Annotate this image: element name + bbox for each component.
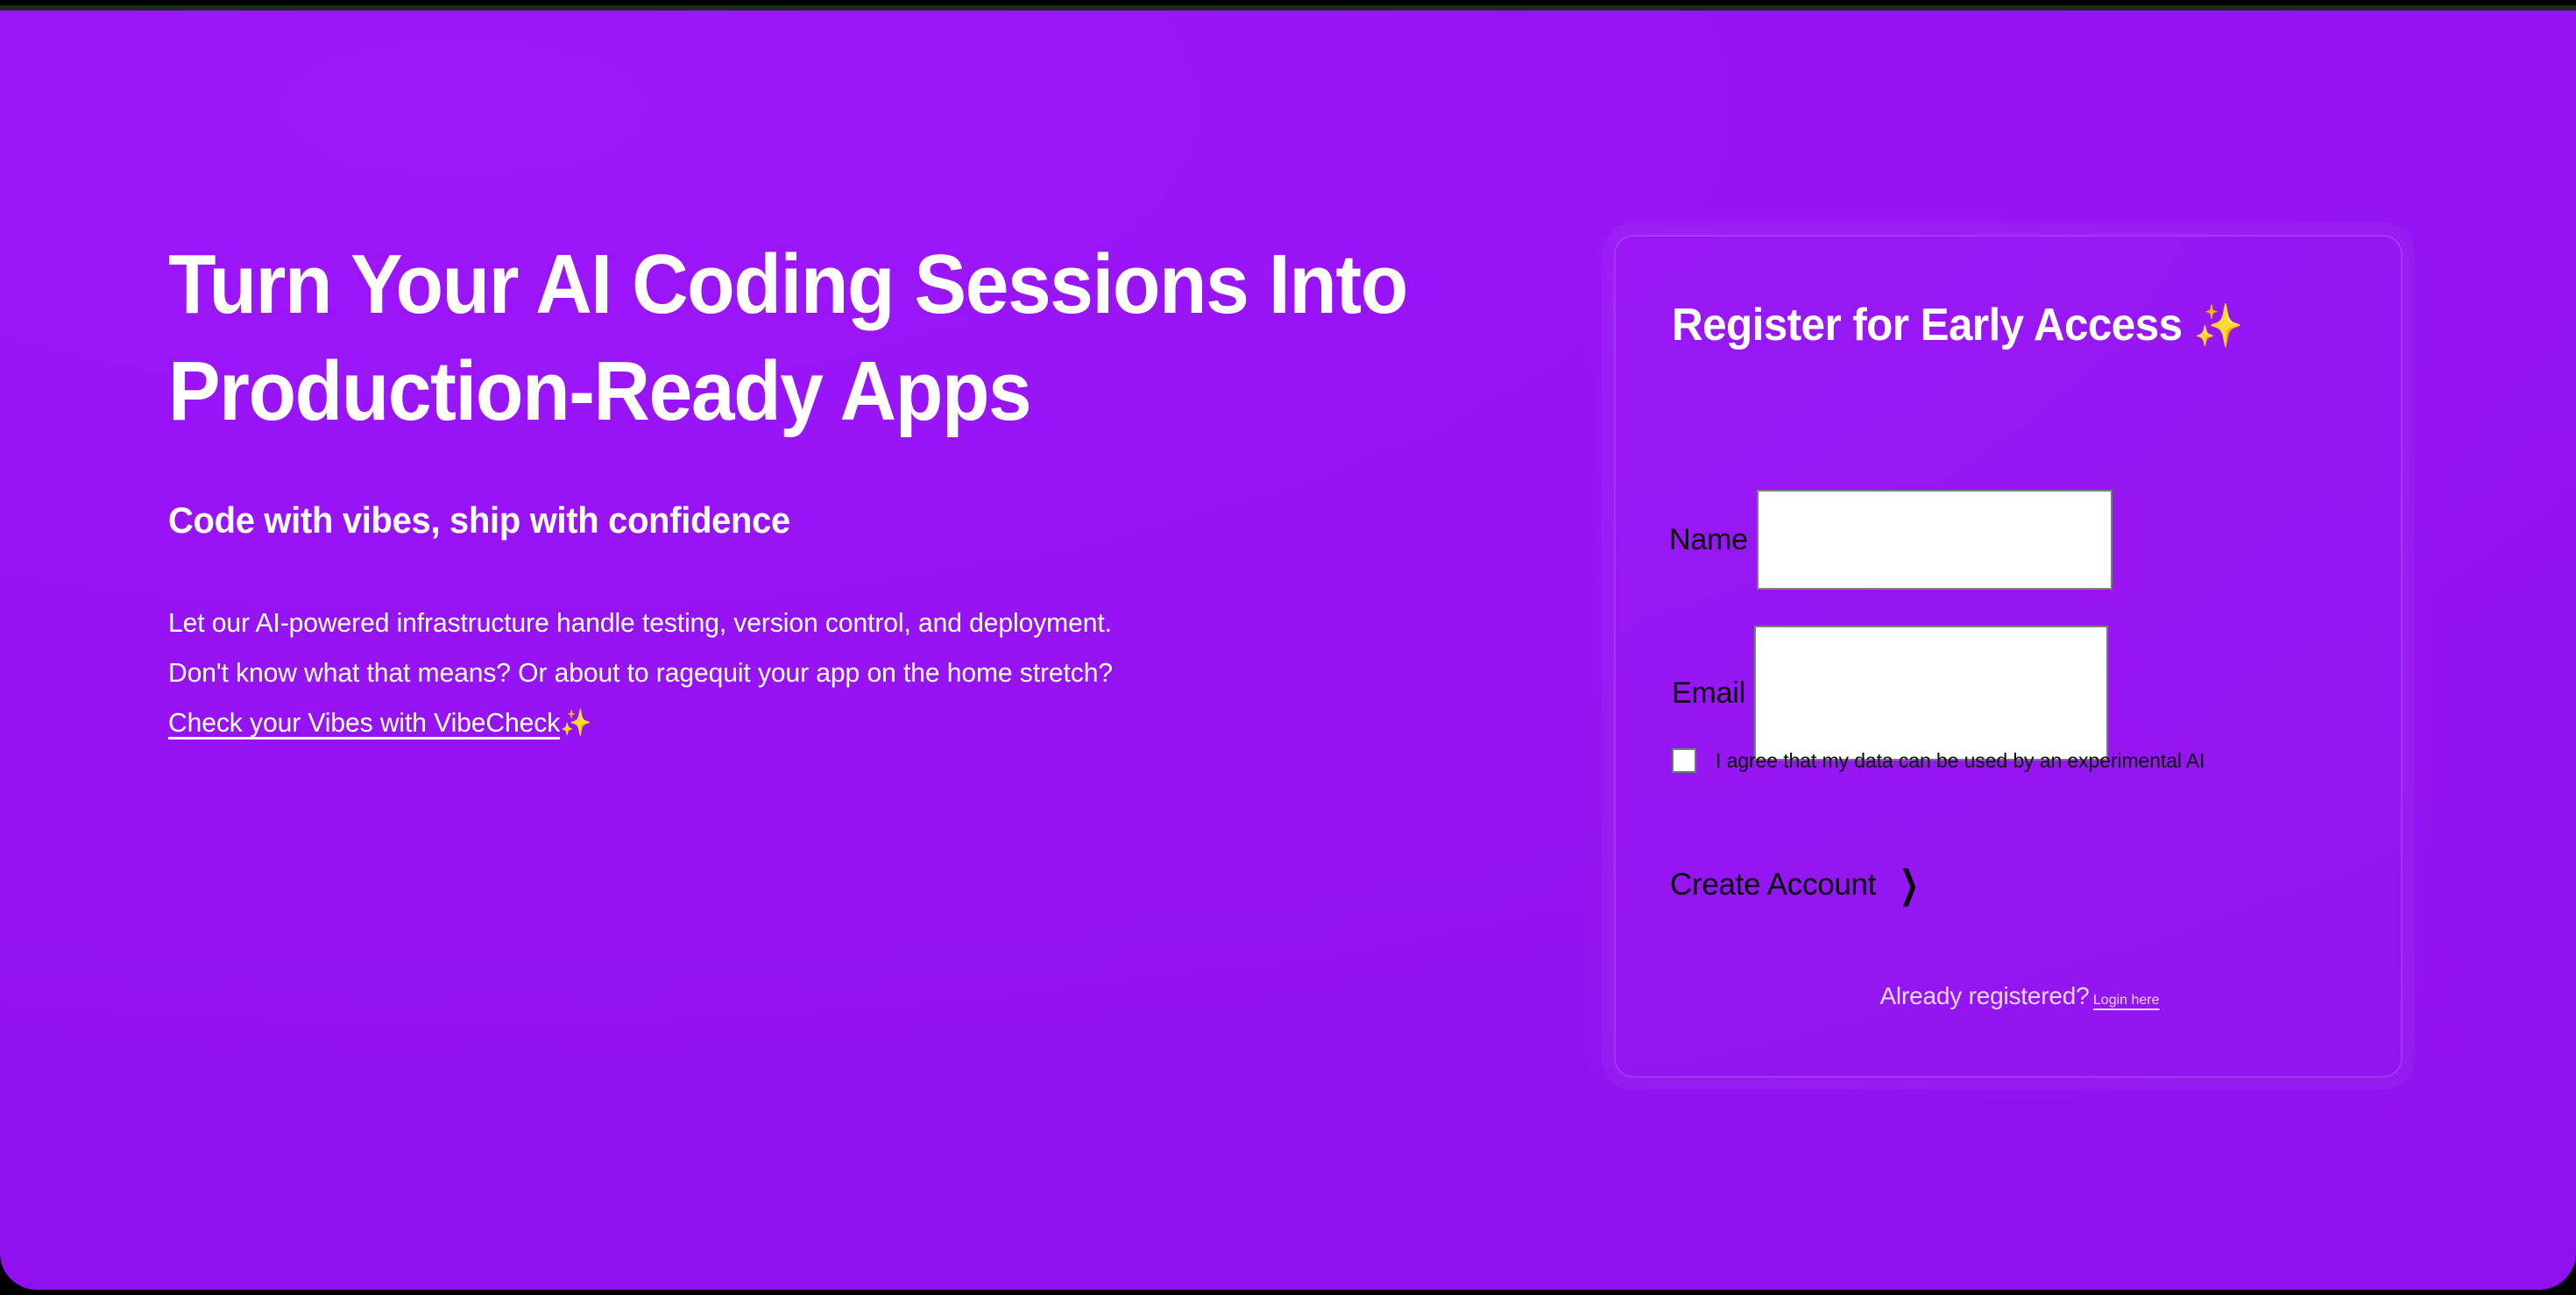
chevron-right-icon: ❯ bbox=[1884, 865, 1919, 905]
create-account-button[interactable]: Create Account ❯ bbox=[1670, 867, 1927, 902]
consent-label: I agree that my data can be used by an e… bbox=[1696, 748, 2204, 773]
hero-section: Turn Your AI Coding Sessions Into Produc… bbox=[168, 231, 1535, 748]
sparkles-icon: ✨ bbox=[2194, 303, 2244, 350]
sparkles-icon: ✨ bbox=[560, 709, 591, 738]
hero-body: Let our AI-powered infrastructure handle… bbox=[168, 543, 1494, 748]
hero-body-line-2: Don't know what that means? Or about to … bbox=[168, 647, 1494, 697]
consent-row: I agree that my data can be used by an e… bbox=[1672, 748, 2204, 773]
page-viewport: Turn Your AI Coding Sessions Into Produc… bbox=[0, 5, 2576, 1290]
name-input[interactable] bbox=[1757, 490, 2112, 590]
vibecheck-link[interactable]: Check your Vibes with VibeCheck bbox=[168, 707, 560, 738]
page-title: Turn Your AI Coding Sessions Into Produc… bbox=[168, 231, 1440, 445]
name-field-label: Name bbox=[1669, 524, 1757, 556]
register-card-title-text: Register for Early Access bbox=[1672, 300, 2183, 350]
hero-body-line-1: Let our AI-powered infrastructure handle… bbox=[168, 598, 1494, 647]
email-input[interactable] bbox=[1754, 626, 2108, 761]
consent-checkbox[interactable] bbox=[1672, 748, 1696, 773]
create-account-label: Create Account bbox=[1670, 867, 1876, 902]
email-field-row: Email bbox=[1672, 626, 2108, 761]
login-link[interactable]: Login here bbox=[2093, 993, 2160, 1008]
register-card-title: Register for Early Access ✨ bbox=[1672, 294, 2304, 357]
vibecheck-link-label: Check your Vibes with VibeCheck bbox=[168, 707, 560, 738]
name-field-row: Name bbox=[1669, 490, 2112, 590]
email-field-label: Email bbox=[1672, 677, 1754, 709]
hero-subtitle: Code with vibes, ship with confidence bbox=[168, 445, 1467, 543]
already-registered-text: Already registered? bbox=[1879, 982, 2089, 1009]
top-edge-rule bbox=[0, 5, 2576, 11]
